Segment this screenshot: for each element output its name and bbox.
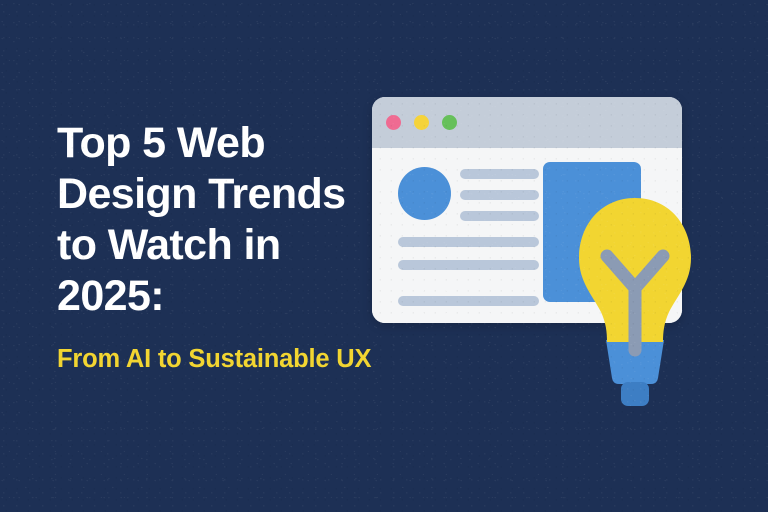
placeholder-text-line	[460, 169, 539, 179]
placeholder-text-line	[460, 211, 539, 221]
avatar	[398, 167, 451, 220]
placeholder-text-line	[398, 296, 539, 306]
placeholder-text-line	[398, 260, 539, 270]
window-close-dot-icon[interactable]	[386, 115, 401, 130]
browser-titlebar	[372, 97, 682, 148]
poster-canvas: Top 5 Web Design Trends to Watch in 2025…	[0, 0, 768, 512]
placeholder-text-line	[398, 237, 539, 247]
page-subtitle: From AI to Sustainable UX	[57, 343, 387, 375]
placeholder-text-line	[460, 190, 539, 200]
page-title: Top 5 Web Design Trends to Watch in 2025…	[57, 118, 387, 322]
window-maximize-dot-icon[interactable]	[442, 115, 457, 130]
lightbulb-icon	[565, 190, 705, 415]
window-minimize-dot-icon[interactable]	[414, 115, 429, 130]
text-block: Top 5 Web Design Trends to Watch in 2025…	[57, 118, 387, 375]
lightbulb-cap	[621, 382, 649, 406]
lightbulb-illustration	[565, 190, 705, 415]
